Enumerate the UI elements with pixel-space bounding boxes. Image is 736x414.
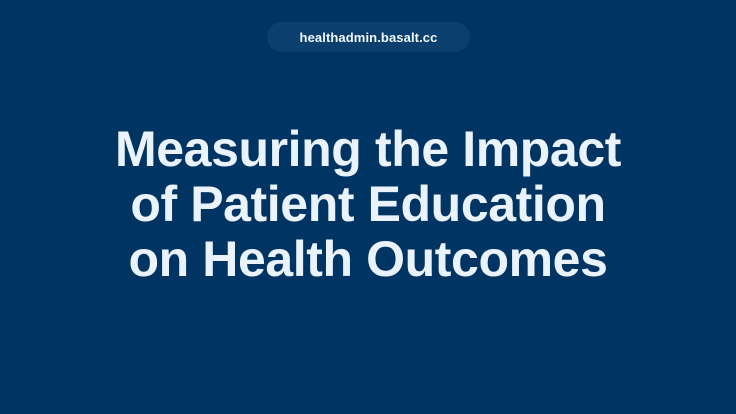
url-badge[interactable]: healthadmin.basalt.cc	[267, 22, 470, 52]
title-line-2: of Patient Education	[0, 177, 736, 232]
slide-title: Measuring the Impact of Patient Educatio…	[0, 122, 736, 287]
title-line-1: Measuring the Impact	[0, 122, 736, 177]
url-badge-label: healthadmin.basalt.cc	[300, 31, 438, 44]
title-line-3: on Health Outcomes	[0, 232, 736, 287]
title-slide: healthadmin.basalt.cc Measuring the Impa…	[0, 0, 736, 414]
